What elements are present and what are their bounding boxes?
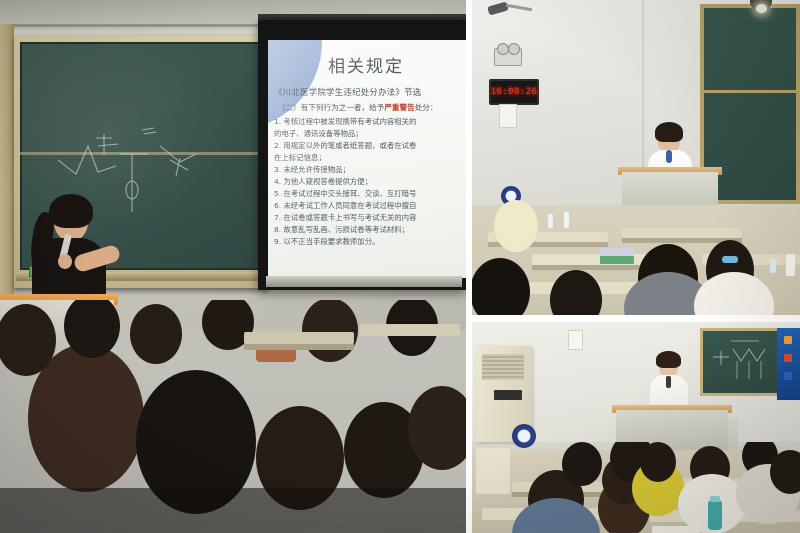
lecturer-hair [656,351,681,368]
wall-pillar [0,24,14,324]
slide-lead-prefix: （二）有下列行为之一者，给予 [278,103,384,112]
projection-monitor [777,328,800,400]
wall-notice-paper [499,104,517,128]
led-clock-display: 16:08:26 [489,79,539,105]
panel-wide-hall [472,322,800,533]
slide-title: 相关规定 [328,52,404,77]
speaker-hair [655,122,683,142]
slide-rule-item: 6. 未经考试工作人员同意在考试过程中擅自 [274,200,466,212]
slide-rule-item: 5. 在考试过程中交头接耳、交谈、互打暗号 [274,188,466,200]
projected-slide: 相关规定 《川北医学院学生违纪处分办法》节选 （二）有下列行为之一者，给予严重警… [268,40,466,278]
office-app-icon [784,372,792,380]
slide-rule-item: 3. 未经允许传接物品； [274,164,466,176]
office-app-icon [784,354,792,362]
slide-subtitle: 《川北医学院学生违纪处分办法》节选 [274,86,466,98]
slide-rule-item: 8. 故意乱写乱画、污损试卷等考试材料； [274,224,466,236]
office-app-icon [784,336,792,344]
air-conditioner-panel [494,390,522,400]
panel-divider-vertical [466,0,472,533]
slide-rule-list: 1. 考核过程中被发现携带有考试内容相关的 的电子、通讯设备等物品； 2. 用规… [274,116,466,248]
wall-notice-paper [568,330,583,350]
chalkboard-divider [700,90,800,93]
slide-lead-highlight: 严重警告 [384,103,414,112]
air-conditioner-vent [482,354,524,380]
slide-rule-item: 1. 考核过程中被发现携带有考试内容相关的 [274,116,466,128]
desk-rows-and-students [472,196,800,315]
photo-collage: 相关规定 《川北医学院学生违纪处分办法》节选 （二）有下列行为之一者，给予严重警… [0,0,800,533]
slide-rule-item: 2. 用规定以外的笔或者纸答题，或者在试卷 [274,140,466,152]
led-clock-time: 16:08:26 [491,87,538,97]
slide-rule-item: 4. 为他人窥视答卷提供方便； [274,176,466,188]
presenter-hair [49,194,93,228]
slide-rule-item: 在上标记信息； [274,152,466,164]
chalkboard-diagram [703,331,785,393]
projector-screen-base [266,276,462,287]
panel-main-lecture: 相关规定 《川北医学院学生违纪处分办法》节选 （二）有下列行为之一者，给予严重警… [0,0,466,533]
microphone-icon [666,150,672,163]
slide-rule-item: 的电子、通讯设备等物品； [274,128,466,140]
desk-row [240,300,466,390]
panel-divider-horizontal [466,315,800,322]
students-and-desks [472,442,800,533]
presenter-hand [58,254,72,269]
slide-rule-item: 9. 以不正当手段要求教师加分。 [274,236,466,248]
microphone-icon [666,376,671,388]
slide-lead-suffix: 处分： [415,103,438,112]
panel-speaker-podium: 16:08:26 [472,0,800,315]
slide-lead-line: （二）有下列行为之一者，给予严重警告处分： [278,102,466,113]
slide-rule-item: 7. 在试卷或答题卡上书写与考试无关的内容 [274,212,466,224]
emergency-light-icon [494,48,522,66]
